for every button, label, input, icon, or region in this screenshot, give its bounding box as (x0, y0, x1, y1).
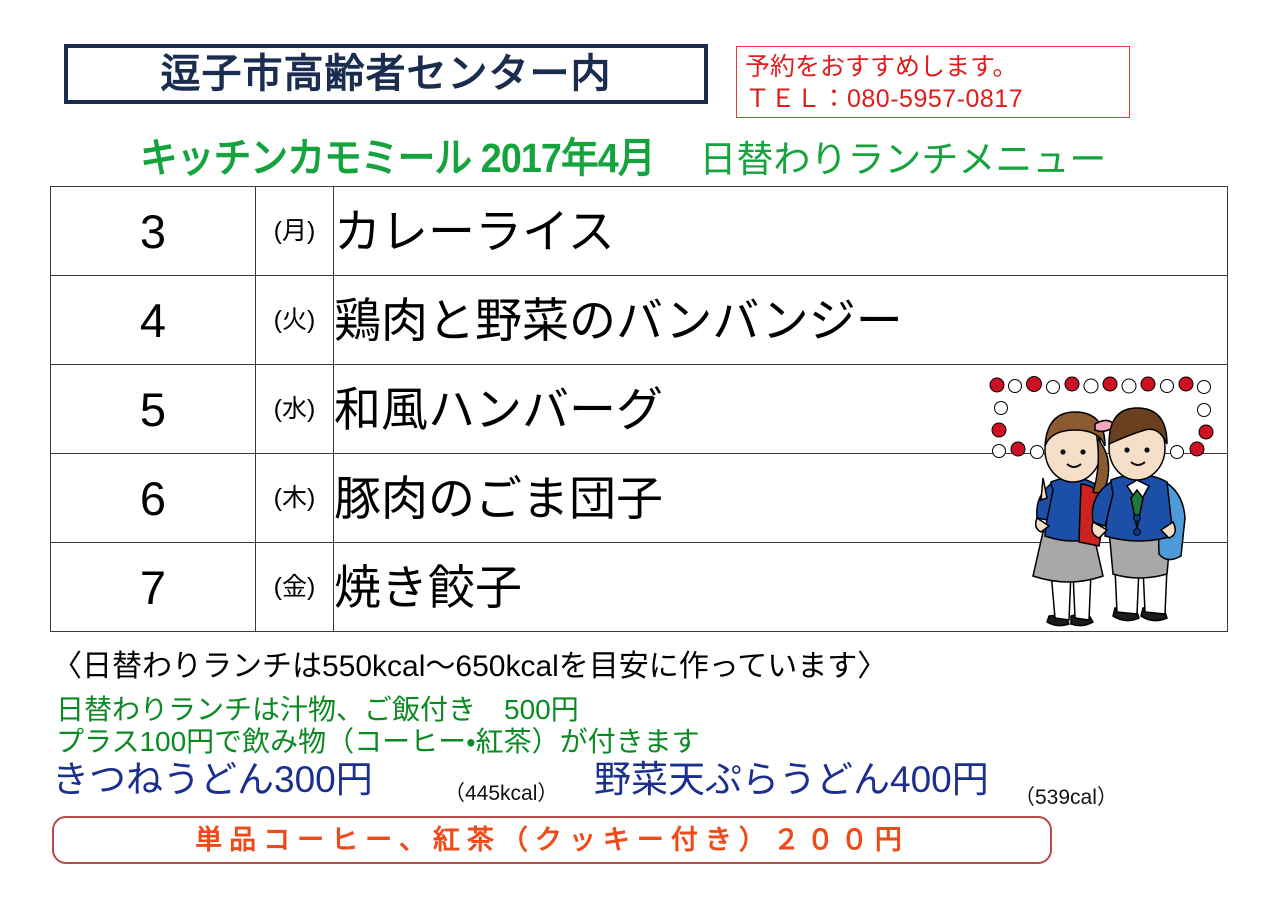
lunch-set-note: 日替わりランチは汁物、ご飯付き 500円 (56, 694, 579, 726)
daily-menu-table: 3 (月) カレーライス 4 (火) 鶏肉と野菜のバンバンジー 5 (水) 和風… (50, 186, 1228, 632)
day-number: 4 (51, 276, 256, 365)
headline-shop-and-month: キッチンカモミール 2017年4月 (140, 134, 655, 182)
tempura-udon-calories: （539cal） (1014, 786, 1118, 810)
reservation-tel-box: 予約をおすすめします。 ＴＥＬ：080-5957-0817 (736, 46, 1130, 118)
table-row: 6 (木) 豚肉のごま団子 (51, 454, 1228, 543)
telephone-number: ＴＥＬ：080-5957-0817 (745, 83, 1129, 115)
kitsune-udon-price: きつねうどん300円 (52, 760, 373, 800)
day-number: 6 (51, 454, 256, 543)
weekday: (金) (256, 543, 334, 632)
tempura-udon-price: 野菜天ぷらうどん400円 (594, 760, 989, 800)
kitsune-udon-calories: （445kcal） (444, 782, 558, 806)
headline: キッチンカモミール 2017年4月日替わりランチメニュー (140, 134, 1200, 182)
weekday: (水) (256, 365, 334, 454)
dish-name: 和風ハンバーグ (334, 365, 1228, 454)
coffee-offer-text: 単品コーヒー、紅茶（クッキー付き）２００円 (195, 827, 909, 854)
day-number: 5 (51, 365, 256, 454)
headline-menu-label: 日替わりランチメニュー (699, 136, 1106, 184)
dish-name: 豚肉のごま団子 (334, 454, 1228, 543)
table-row: 4 (火) 鶏肉と野菜のバンバンジー (51, 276, 1228, 365)
day-number: 7 (51, 543, 256, 632)
table-row: 3 (月) カレーライス (51, 187, 1228, 276)
drink-addon-note: プラス100円で飲み物（コーヒー・紅茶）が付きます (56, 726, 700, 758)
calorie-guideline-note: 〈日替わりランチは550kcal〜650kcalを目安に作っています〉 (52, 650, 887, 684)
day-number: 3 (51, 187, 256, 276)
table-row: 5 (水) 和風ハンバーグ (51, 365, 1228, 454)
weekday: (木) (256, 454, 334, 543)
menu-flyer-page: 逗子市高齢者センター内 予約をおすすめします。 ＴＥＬ：080-5957-081… (0, 0, 1280, 904)
coffee-offer-box: 単品コーヒー、紅茶（クッキー付き）２００円 (52, 816, 1052, 864)
dish-name: 焼き餃子 (334, 543, 1228, 632)
weekday: (月) (256, 187, 334, 276)
table-row: 7 (金) 焼き餃子 (51, 543, 1228, 632)
dish-name: カレーライス (334, 187, 1228, 276)
facility-title-box: 逗子市高齢者センター内 (64, 44, 708, 104)
facility-title: 逗子市高齢者センター内 (161, 54, 612, 94)
weekday: (火) (256, 276, 334, 365)
reservation-note: 予約をおすすめします。 (745, 51, 1129, 83)
dish-name: 鶏肉と野菜のバンバンジー (334, 276, 1228, 365)
